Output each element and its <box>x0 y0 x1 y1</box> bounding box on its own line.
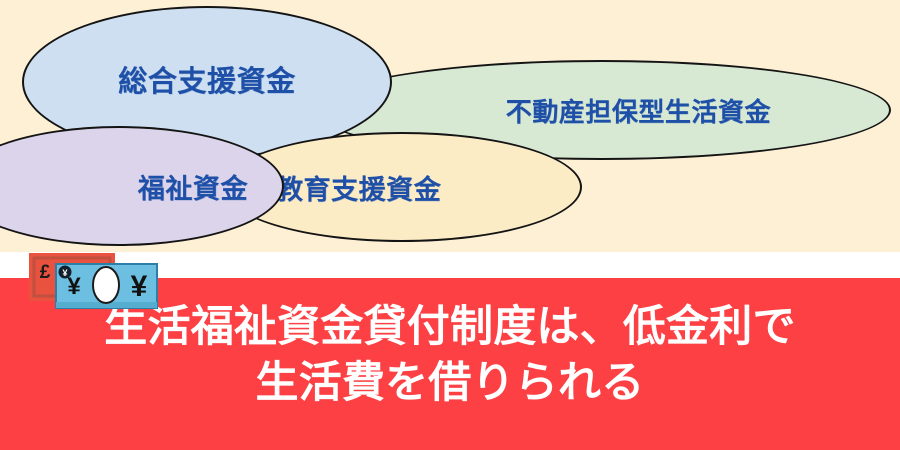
bubble-label-sogo: 総合支援資金 <box>118 58 295 106</box>
bubble-label-kyoiku: 教育支援資金 <box>276 168 441 207</box>
headline-text: 生活福祉資金貸付制度は、低金利で 生活費を借りられる <box>0 300 900 412</box>
bubble-label-fudosan: 不動産担保型生活資金 <box>506 92 771 129</box>
banknote-back-currency-symbol: £ <box>40 262 51 283</box>
banknote-front-seal-symbol: ¥ <box>62 268 67 278</box>
banknote-front-currency-symbol-right: ¥ <box>131 270 148 303</box>
banknote-front: ¥ ¥ ¥ <box>56 264 157 308</box>
headline-line-2: 生活費を借りられる <box>0 356 900 412</box>
banknote-front-currency-symbol-left: ¥ <box>67 273 81 300</box>
loan-types-diagram: 総合支援資金 不動産担保型生活資金 教育支援資金 福祉資金 <box>0 0 900 252</box>
infographic-root: 総合支援資金 不動産担保型生活資金 教育支援資金 福祉資金 生活福祉資金貸付制度… <box>0 0 900 450</box>
bubble-label-fukushi: 福祉資金 <box>138 167 248 206</box>
money-banknotes-icon: £ ¥ ¥ ¥ <box>28 252 160 310</box>
banknote-front-portrait-oval <box>93 267 119 303</box>
